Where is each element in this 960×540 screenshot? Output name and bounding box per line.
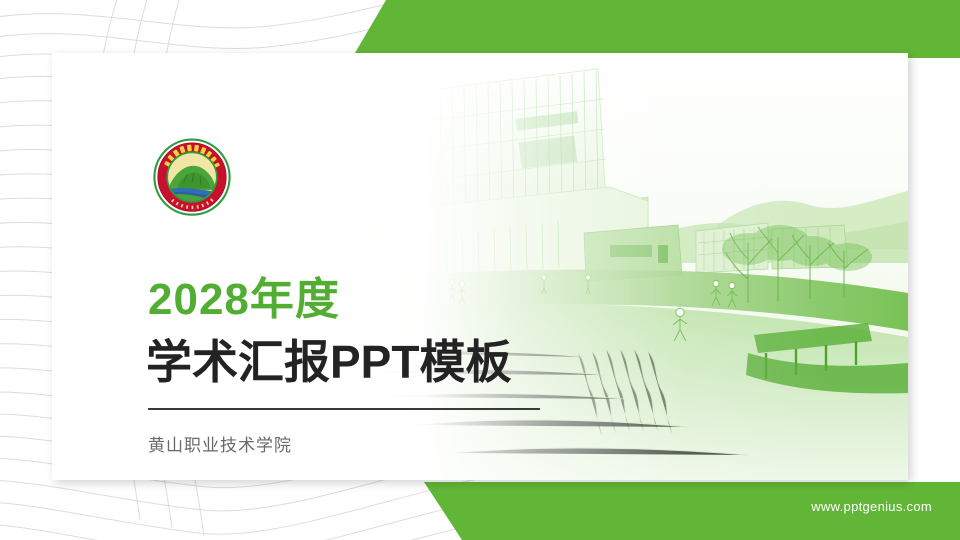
content-card: 2028年度 学术汇报PPT模板 黄山职业技术学院 汇报人：林辉强指导老师：陆老…	[52, 53, 908, 480]
top-green-band	[0, 0, 960, 58]
year-title: 2028年度	[148, 278, 340, 322]
website-url[interactable]: www.pptgenius.com	[811, 499, 932, 514]
page-title: 学术汇报PPT模板	[146, 338, 511, 386]
presentation-slide: 2028年度 学术汇报PPT模板 黄山职业技术学院 汇报人：林辉强指导老师：陆老…	[0, 0, 960, 540]
school-name: 黄山职业技术学院	[148, 431, 292, 456]
campus-building-lake-illustration	[348, 53, 908, 480]
college-logo	[148, 137, 236, 219]
photo-fade-overlay	[348, 53, 908, 480]
title-divider	[148, 408, 540, 410]
